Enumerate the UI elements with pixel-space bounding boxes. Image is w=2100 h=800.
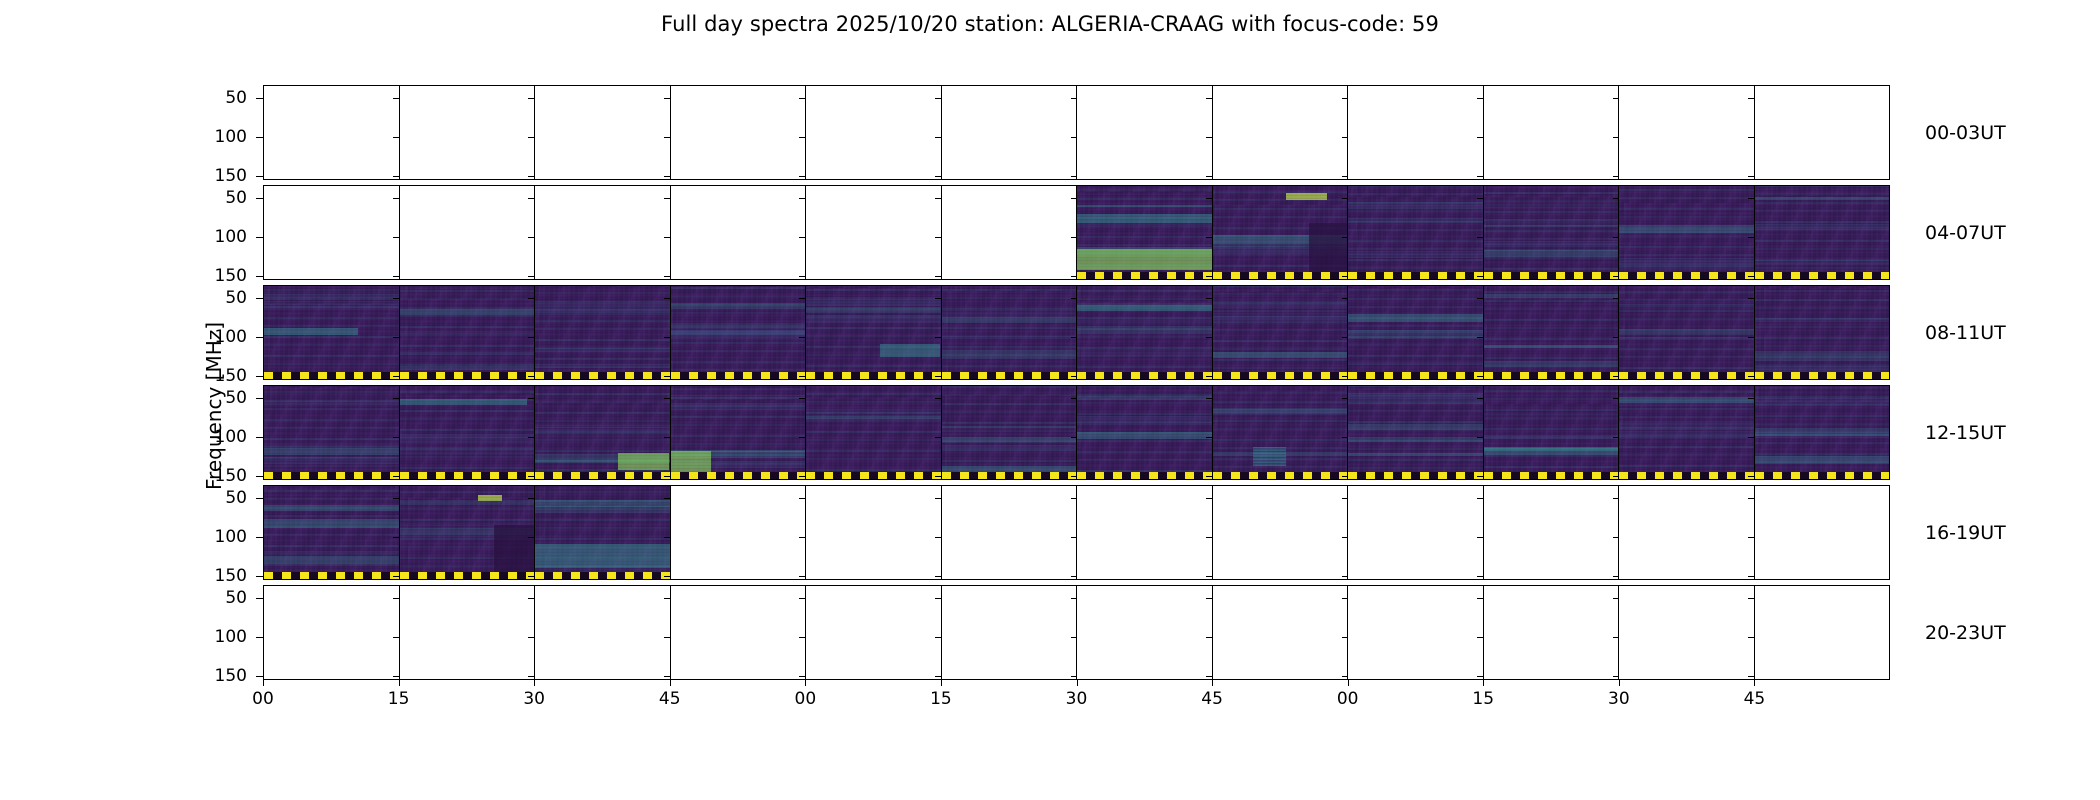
y-tick-inner xyxy=(1206,476,1212,477)
time-panel[interactable] xyxy=(1213,286,1349,379)
time-panel[interactable] xyxy=(400,186,536,279)
y-tick-inner xyxy=(1342,298,1348,299)
emission-band xyxy=(264,301,399,310)
time-panel[interactable] xyxy=(671,486,807,579)
time-panel[interactable] xyxy=(1348,386,1484,479)
time-panel[interactable] xyxy=(1077,486,1213,579)
time-panel[interactable] xyxy=(942,586,1078,679)
emission-band xyxy=(1619,400,1754,405)
y-tick-inner xyxy=(1206,576,1212,577)
y-tick-mark xyxy=(256,637,263,638)
feature-teal-band xyxy=(264,328,358,335)
time-panel[interactable] xyxy=(535,86,671,179)
time-panel[interactable] xyxy=(806,386,942,479)
time-panel[interactable] xyxy=(1755,386,1890,479)
emission-band xyxy=(1755,260,1890,265)
y-tick-label: 150 xyxy=(187,368,247,385)
y-tick-inner xyxy=(1748,276,1754,277)
y-tick-mark xyxy=(256,537,263,538)
emission-band xyxy=(264,556,399,564)
y-tick-inner xyxy=(1342,276,1348,277)
time-panel[interactable] xyxy=(806,486,942,579)
y-tick-inner xyxy=(935,676,941,677)
emission-band xyxy=(1077,396,1212,400)
y-tick-label: 150 xyxy=(187,268,247,285)
time-panel[interactable] xyxy=(1213,186,1349,279)
time-panel[interactable] xyxy=(1484,186,1620,279)
time-panel[interactable] xyxy=(264,386,400,479)
y-tick-inner xyxy=(935,537,941,538)
y-tick-inner xyxy=(1071,337,1077,338)
y-tick-inner xyxy=(528,576,534,577)
emission-band xyxy=(1619,304,1754,307)
y-tick-inner xyxy=(393,276,399,277)
y-tick-inner xyxy=(799,176,805,177)
y-tick-label: 50 xyxy=(187,90,247,107)
emission-band xyxy=(535,500,670,507)
emission-band xyxy=(671,303,806,310)
emission-band xyxy=(942,317,1077,323)
y-tick-inner xyxy=(1613,598,1619,599)
spectrogram-row-20-23ut[interactable] xyxy=(263,585,1890,680)
y-tick-inner xyxy=(1206,598,1212,599)
time-panel[interactable] xyxy=(806,86,942,179)
time-panel[interactable] xyxy=(1484,486,1620,579)
emission-band xyxy=(1755,398,1890,406)
time-panel[interactable] xyxy=(671,586,807,679)
y-tick-inner xyxy=(1477,176,1483,177)
feature-teal-band xyxy=(535,544,670,568)
y-tick-inner xyxy=(664,137,670,138)
time-panel[interactable] xyxy=(264,486,400,579)
y-tick-inner xyxy=(1613,237,1619,238)
y-tick-inner xyxy=(1613,376,1619,377)
time-panel[interactable] xyxy=(1484,586,1620,679)
data-present-marker xyxy=(535,472,670,479)
y-tick-inner xyxy=(1206,176,1212,177)
emission-band xyxy=(264,551,399,553)
y-tick-inner xyxy=(664,237,670,238)
spectrogram-figure: Full day spectra 2025/10/20 station: ALG… xyxy=(0,0,2100,800)
time-panel[interactable] xyxy=(400,86,536,179)
emission-band xyxy=(1077,349,1212,356)
time-panel[interactable] xyxy=(1213,486,1349,579)
emission-band xyxy=(942,437,1077,443)
y-tick-inner xyxy=(1342,376,1348,377)
y-tick-inner xyxy=(528,437,534,438)
spectrogram-texture xyxy=(1484,386,1619,479)
emission-band xyxy=(1619,258,1754,265)
y-tick-inner xyxy=(1071,137,1077,138)
y-tick-inner xyxy=(1613,537,1619,538)
y-tick-label: 100 xyxy=(187,129,247,146)
emission-band xyxy=(671,395,806,398)
y-tick-inner xyxy=(1071,198,1077,199)
time-panel[interactable] xyxy=(1348,286,1484,379)
y-tick-inner xyxy=(1748,98,1754,99)
time-panel[interactable] xyxy=(1077,86,1213,179)
panel-strip xyxy=(264,86,1889,179)
y-tick-inner xyxy=(528,237,534,238)
y-tick-inner xyxy=(1342,598,1348,599)
y-tick-inner xyxy=(1206,537,1212,538)
time-panel[interactable] xyxy=(1213,86,1349,179)
y-tick-inner xyxy=(664,498,670,499)
time-panel[interactable] xyxy=(1484,286,1620,379)
time-panel[interactable] xyxy=(1213,386,1349,479)
x-tick-label: 45 xyxy=(1192,691,1232,708)
y-tick-inner xyxy=(935,337,941,338)
emission-band xyxy=(535,506,670,513)
y-tick-inner xyxy=(1477,598,1483,599)
y-tick-inner xyxy=(799,676,805,677)
y-tick-inner xyxy=(393,176,399,177)
y-tick-inner xyxy=(1613,198,1619,199)
y-tick-inner xyxy=(528,137,534,138)
time-panel[interactable] xyxy=(1619,386,1755,479)
y-tick-inner xyxy=(1613,476,1619,477)
time-panel[interactable] xyxy=(1755,486,1890,579)
emission-band xyxy=(535,309,670,314)
y-tick-inner xyxy=(1477,437,1483,438)
y-tick-inner xyxy=(1206,498,1212,499)
y-tick-inner xyxy=(1071,476,1077,477)
y-tick-inner xyxy=(528,498,534,499)
time-panel[interactable] xyxy=(535,586,671,679)
time-panel[interactable] xyxy=(535,186,671,279)
row-label-04-07ut: 04-07UT xyxy=(1925,224,2006,243)
data-present-marker xyxy=(264,472,399,479)
y-tick-inner xyxy=(1748,237,1754,238)
panel-strip xyxy=(264,486,1889,579)
data-present-marker xyxy=(535,372,670,379)
time-panel[interactable] xyxy=(400,586,536,679)
x-tick-label: 15 xyxy=(379,691,419,708)
y-tick-inner xyxy=(1206,98,1212,99)
y-tick-inner xyxy=(799,376,805,377)
feature-teal-band xyxy=(400,399,528,405)
time-panel[interactable] xyxy=(1348,186,1484,279)
spectrogram-row-00-03ut[interactable] xyxy=(263,85,1890,180)
y-tick-label: 150 xyxy=(187,168,247,185)
y-tick-inner xyxy=(935,437,941,438)
emission-band xyxy=(1484,345,1619,348)
time-panel[interactable] xyxy=(671,86,807,179)
emission-band xyxy=(1213,313,1348,318)
y-tick-label: 150 xyxy=(187,568,247,585)
y-tick-inner xyxy=(799,98,805,99)
emission-band xyxy=(1484,447,1619,455)
time-panel[interactable] xyxy=(1077,186,1213,279)
y-tick-label: 50 xyxy=(187,290,247,307)
spectrogram-texture xyxy=(264,386,399,479)
y-tick-inner xyxy=(528,98,534,99)
y-tick-inner xyxy=(1613,437,1619,438)
time-panel[interactable] xyxy=(806,586,942,679)
time-panel[interactable] xyxy=(535,286,671,379)
y-tick-mark xyxy=(256,376,263,377)
y-tick-inner xyxy=(799,237,805,238)
emission-band xyxy=(1077,318,1212,323)
data-present-marker xyxy=(1755,272,1890,279)
y-tick-inner xyxy=(1748,676,1754,677)
time-panel[interactable] xyxy=(1755,186,1890,279)
y-tick-inner xyxy=(1613,176,1619,177)
y-tick-inner xyxy=(528,398,534,399)
emission-band xyxy=(1213,301,1348,309)
time-panel[interactable] xyxy=(264,286,400,379)
emission-band xyxy=(1348,314,1483,323)
y-tick-inner xyxy=(528,598,534,599)
data-present-marker xyxy=(671,472,806,479)
y-tick-inner xyxy=(935,598,941,599)
emission-band xyxy=(1348,453,1483,456)
time-panel[interactable] xyxy=(1619,486,1755,579)
y-tick-inner xyxy=(1477,498,1483,499)
y-tick-inner xyxy=(664,598,670,599)
emission-band xyxy=(806,299,941,305)
time-panel[interactable] xyxy=(1619,586,1755,679)
y-tick-mark xyxy=(256,176,263,177)
row-label-08-11ut: 08-11UT xyxy=(1925,324,2006,343)
y-tick-inner xyxy=(1206,337,1212,338)
emission-band xyxy=(942,336,1077,339)
y-tick-label: 50 xyxy=(187,590,247,607)
time-panel[interactable] xyxy=(535,486,671,579)
time-panel[interactable] xyxy=(1619,186,1755,279)
time-panel[interactable] xyxy=(942,186,1078,279)
emission-band xyxy=(1077,205,1212,207)
time-panel[interactable] xyxy=(806,286,942,379)
y-tick-inner xyxy=(528,198,534,199)
emission-band xyxy=(806,416,941,418)
emission-band xyxy=(1755,197,1890,200)
y-tick-inner xyxy=(799,598,805,599)
data-present-marker xyxy=(264,572,399,579)
spectrogram-row-08-11ut[interactable] xyxy=(263,285,1890,380)
y-tick-inner xyxy=(1342,337,1348,338)
x-tick-mark xyxy=(1212,680,1213,686)
feature-yellow-burst xyxy=(478,495,502,501)
time-panel[interactable] xyxy=(535,386,671,479)
time-panel[interactable] xyxy=(671,386,807,479)
feature-bright-green-band xyxy=(618,453,669,470)
y-tick-mark xyxy=(256,298,263,299)
y-tick-inner xyxy=(1071,176,1077,177)
y-tick-mark xyxy=(256,676,263,677)
feature-teal-band xyxy=(880,344,941,357)
emission-band xyxy=(1755,456,1890,465)
y-tick-inner xyxy=(1342,676,1348,677)
spectrogram-texture xyxy=(264,486,399,579)
time-panel[interactable] xyxy=(1348,486,1484,579)
row-label-16-19ut: 16-19UT xyxy=(1925,524,2006,543)
time-panel[interactable] xyxy=(942,286,1078,379)
time-panel[interactable] xyxy=(264,86,400,179)
y-tick-inner xyxy=(528,276,534,277)
data-present-marker xyxy=(1077,372,1212,379)
emission-band xyxy=(1213,409,1348,415)
y-tick-inner xyxy=(1071,598,1077,599)
y-tick-mark xyxy=(256,476,263,477)
time-panel[interactable] xyxy=(942,486,1078,579)
time-panel[interactable] xyxy=(1213,586,1349,679)
emission-band xyxy=(1077,303,1212,309)
y-tick-mark xyxy=(256,498,263,499)
y-tick-inner xyxy=(1748,398,1754,399)
x-tick-label: 00 xyxy=(243,691,283,708)
y-tick-inner xyxy=(393,137,399,138)
feature-yellow-burst xyxy=(1286,193,1326,200)
emission-band xyxy=(806,315,941,323)
y-tick-inner xyxy=(528,376,534,377)
y-tick-inner xyxy=(935,276,941,277)
time-panel[interactable] xyxy=(400,386,536,479)
time-panel[interactable] xyxy=(1484,386,1620,479)
y-tick-inner xyxy=(1748,176,1754,177)
y-tick-inner xyxy=(1342,198,1348,199)
y-tick-inner xyxy=(1748,337,1754,338)
feature-teal-burst xyxy=(1253,447,1287,466)
x-tick-mark xyxy=(1348,680,1349,686)
row-label-00-03ut: 00-03UT xyxy=(1925,124,2006,143)
y-tick-inner xyxy=(1342,398,1348,399)
y-tick-inner xyxy=(799,398,805,399)
y-tick-inner xyxy=(1342,437,1348,438)
y-tick-inner xyxy=(1477,676,1483,677)
y-tick-inner xyxy=(1206,237,1212,238)
y-tick-inner xyxy=(1613,137,1619,138)
y-tick-inner xyxy=(935,637,941,638)
emission-band xyxy=(671,403,806,410)
data-present-marker xyxy=(1348,472,1483,479)
time-panel[interactable] xyxy=(1484,86,1620,179)
x-tick-mark xyxy=(399,680,400,686)
emission-band xyxy=(400,434,535,439)
y-tick-mark xyxy=(256,237,263,238)
y-tick-mark xyxy=(256,398,263,399)
y-tick-inner xyxy=(1071,498,1077,499)
data-present-marker xyxy=(264,372,399,379)
x-tick-label: 15 xyxy=(1463,691,1503,708)
y-tick-inner xyxy=(1613,337,1619,338)
time-panel[interactable] xyxy=(1077,586,1213,679)
spectrogram-row-04-07ut[interactable] xyxy=(263,185,1890,280)
y-tick-inner xyxy=(664,476,670,477)
data-present-marker xyxy=(400,472,535,479)
data-present-marker xyxy=(1619,472,1754,479)
x-tick-mark xyxy=(534,680,535,686)
time-panel[interactable] xyxy=(1755,586,1890,679)
y-tick-inner xyxy=(393,576,399,577)
time-panel[interactable] xyxy=(1619,86,1755,179)
y-tick-inner xyxy=(1206,437,1212,438)
y-tick-inner xyxy=(1748,598,1754,599)
time-panel[interactable] xyxy=(1619,286,1755,379)
y-tick-inner xyxy=(1613,276,1619,277)
time-panel[interactable] xyxy=(942,86,1078,179)
y-tick-inner xyxy=(1748,137,1754,138)
y-tick-inner xyxy=(935,298,941,299)
y-tick-label: 100 xyxy=(187,429,247,446)
x-tick-mark xyxy=(1483,680,1484,686)
data-present-marker xyxy=(400,572,535,579)
y-tick-label: 100 xyxy=(187,529,247,546)
time-panel[interactable] xyxy=(1755,86,1890,179)
y-tick-inner xyxy=(799,576,805,577)
time-panel[interactable] xyxy=(400,486,536,579)
time-panel[interactable] xyxy=(400,286,536,379)
y-tick-inner xyxy=(799,298,805,299)
y-tick-inner xyxy=(1342,137,1348,138)
emission-band xyxy=(1619,337,1754,341)
time-panel[interactable] xyxy=(1348,86,1484,179)
x-tick-label: 30 xyxy=(1599,691,1639,708)
time-panel[interactable] xyxy=(671,286,807,379)
time-panel[interactable] xyxy=(264,186,400,279)
time-panel[interactable] xyxy=(1077,286,1213,379)
y-tick-inner xyxy=(1748,637,1754,638)
spectrogram-row-16-19ut[interactable] xyxy=(263,485,1890,580)
emission-band xyxy=(400,331,535,334)
y-tick-inner xyxy=(1071,637,1077,638)
y-tick-inner xyxy=(799,437,805,438)
data-present-marker xyxy=(1755,472,1890,479)
y-tick-inner xyxy=(1477,376,1483,377)
time-panel[interactable] xyxy=(264,586,400,679)
y-tick-inner xyxy=(393,437,399,438)
emission-band xyxy=(1348,437,1483,442)
row-label-12-15ut: 12-15UT xyxy=(1925,424,2006,443)
x-tick-label: 00 xyxy=(785,691,825,708)
y-tick-inner xyxy=(1206,137,1212,138)
y-tick-mark xyxy=(256,137,263,138)
emission-band xyxy=(806,409,941,413)
emission-band xyxy=(264,294,399,298)
time-panel[interactable] xyxy=(1755,286,1890,379)
emission-band xyxy=(806,307,941,313)
y-tick-inner xyxy=(935,576,941,577)
y-tick-label: 50 xyxy=(187,190,247,207)
y-tick-inner xyxy=(1071,437,1077,438)
spectrogram-row-12-15ut[interactable] xyxy=(263,385,1890,480)
emission-band xyxy=(1348,251,1483,258)
emission-band xyxy=(942,445,1077,451)
time-panel[interactable] xyxy=(942,386,1078,479)
y-tick-inner xyxy=(664,376,670,377)
time-panel[interactable] xyxy=(1077,386,1213,479)
y-tick-inner xyxy=(1748,576,1754,577)
y-tick-inner xyxy=(664,98,670,99)
y-tick-inner xyxy=(664,437,670,438)
y-tick-inner xyxy=(935,498,941,499)
emission-band xyxy=(264,457,399,463)
y-tick-inner xyxy=(1206,676,1212,677)
time-panel[interactable] xyxy=(806,186,942,279)
y-tick-inner xyxy=(1206,376,1212,377)
y-tick-inner xyxy=(799,137,805,138)
y-tick-inner xyxy=(664,637,670,638)
y-tick-inner xyxy=(1342,537,1348,538)
y-tick-inner xyxy=(528,637,534,638)
x-tick-label: 15 xyxy=(921,691,961,708)
x-tick-label: 45 xyxy=(650,691,690,708)
y-tick-inner xyxy=(799,276,805,277)
y-tick-inner xyxy=(528,476,534,477)
page-title: Full day spectra 2025/10/20 station: ALG… xyxy=(0,12,2100,36)
time-panel[interactable] xyxy=(1348,586,1484,679)
time-panel[interactable] xyxy=(671,186,807,279)
